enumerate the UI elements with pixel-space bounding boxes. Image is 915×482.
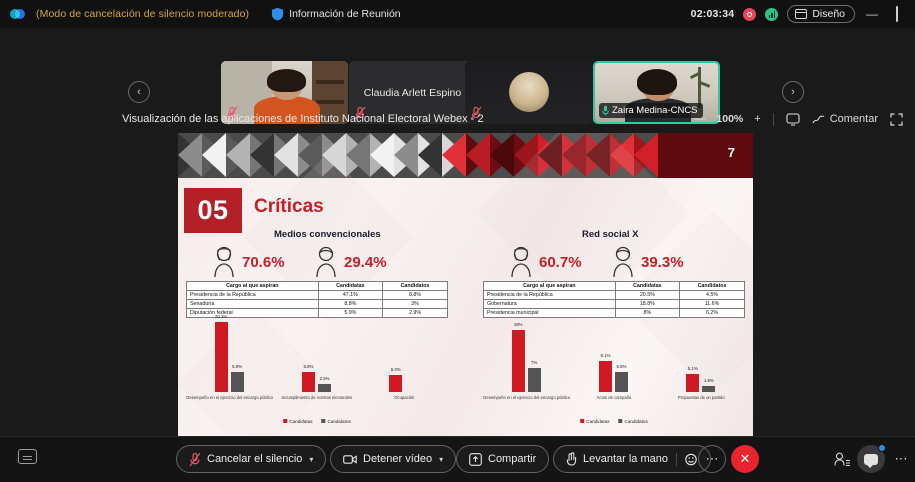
chart-legend-item: Candidatas (580, 419, 609, 424)
participants-icon (834, 452, 851, 467)
male-figure-icon (611, 246, 635, 278)
legend-swatch (283, 419, 287, 423)
chart-bar: 5.8% (302, 372, 315, 392)
female-figure-icon (212, 246, 236, 278)
network-quality-icon[interactable] (765, 8, 778, 21)
stats-table: Cargo al que aspiran Candidatas Candidat… (186, 281, 448, 318)
chart-bar-group: 9.1%5.8% (599, 361, 628, 392)
chart-bar: 5.1% (686, 374, 699, 392)
chart-plot-area: 18%7%9.1%5.8%5.1%1.8% (483, 316, 745, 392)
col-header-candidatas: Candidatas (318, 282, 382, 291)
cell-candidatas: 47.1% (318, 291, 382, 300)
chat-icon (864, 454, 878, 465)
layout-label: Diseño (812, 8, 845, 20)
chart-x-label: Desempeño en el ejercicio del encargo pú… (483, 395, 570, 400)
panel-medios-convencionales: 70.6% 29.4% Cargo al que aspiran Candida… (186, 246, 448, 318)
chart-x-label: Actos de campaña (570, 395, 657, 400)
female-percentage: 60.7% (539, 254, 582, 271)
zoom-level: 100% (716, 113, 743, 125)
reactions-icon[interactable] (685, 453, 698, 466)
chevron-left-icon: ‹ (137, 86, 141, 98)
col-header-candidatas: Candidatas (615, 282, 679, 291)
share-label: Compartir (488, 453, 536, 465)
restore-button[interactable] (889, 7, 905, 21)
more-options-button[interactable]: ⋯ (698, 445, 726, 473)
table-row: Presidencia de la República 20.5% 4.5% (484, 291, 745, 300)
chart-bar-group: 5.0% (389, 375, 402, 392)
cell-cargo: Presidencia de la República (187, 291, 319, 300)
table-row: Senaduría 8.8% 3% (187, 300, 448, 309)
expand-icon[interactable] (890, 113, 903, 126)
male-figure-icon (314, 246, 338, 278)
chart-bar: 7% (528, 368, 541, 392)
mute-toggle-button[interactable]: Cancelar el silencio ▾ (176, 445, 326, 473)
col-header-candidatos: Candidatos (383, 282, 448, 291)
toolbar-divider (773, 113, 774, 126)
chart-bar: 5.0% (389, 375, 402, 392)
shield-icon (271, 7, 284, 21)
chat-button[interactable] (857, 445, 885, 473)
legend-swatch (322, 419, 326, 423)
zoom-controls: — 100% + (694, 113, 760, 125)
chart-bar-value: 7% (531, 360, 537, 365)
zoom-out-button[interactable]: — (694, 113, 705, 125)
meeting-info-button[interactable]: Información de Reunión (271, 7, 401, 21)
meeting-controls-bar: Cancelar el silencio ▾ Detener vídeo ▾ C… (0, 436, 915, 482)
chart-bar-value: 9.1% (600, 353, 610, 358)
closed-caption-icon[interactable] (18, 449, 37, 464)
col-header-candidatos: Candidatos (680, 282, 745, 291)
female-percentage: 70.6% (242, 254, 285, 271)
chevron-right-icon: › (791, 86, 795, 98)
bar-chart-medios: 20.3%5.9%5.8%2.3%5.0% Desempeño en el ej… (186, 316, 448, 424)
share-toolbar: Visualización de las aplicaciones de Ins… (0, 104, 915, 134)
section-title: Críticas (254, 196, 324, 218)
layout-button[interactable]: Diseño (787, 5, 855, 23)
chart-x-labels: Desempeño en el ejercicio del encargo pú… (186, 392, 448, 408)
chart-legend-item: Candidatas (283, 419, 312, 424)
webex-logo-icon (10, 6, 26, 22)
raise-hand-icon (566, 452, 577, 466)
cell-candidatas: 8.8% (318, 300, 382, 309)
chat-unread-badge (878, 444, 886, 452)
chart-bar-group: 20.3%5.9% (215, 322, 244, 392)
section-number-badge: 05 (184, 188, 242, 233)
chart-x-label: Propuestas de un partido (658, 395, 745, 400)
slide-body: 05 Críticas Medios convencionales Red so… (178, 178, 753, 436)
video-label: Detener vídeo (363, 453, 432, 465)
mute-label: Cancelar el silencio (207, 453, 302, 465)
chart-x-label: Incumplimiento de normas electorales (273, 395, 360, 400)
layout-icon (795, 9, 807, 19)
column-heading-medios: Medios convencionales (274, 229, 381, 240)
chevron-down-icon[interactable]: ▾ (309, 455, 313, 464)
cell-candidatos: 8.8% (383, 291, 448, 300)
mic-muted-icon (189, 452, 201, 467)
meeting-timer: 02:03:34 (691, 8, 735, 20)
chart-bar-value: 18% (514, 322, 523, 327)
share-screen-icon (469, 453, 482, 466)
video-toggle-button[interactable]: Detener vídeo ▾ (330, 445, 456, 473)
chart-bar-value: 5.9% (232, 364, 242, 369)
toolbar-divider (0, 436, 915, 437)
chevron-down-icon[interactable]: ▾ (439, 455, 443, 464)
table-row: Presidencia de la República 47.1% 8.8% (187, 291, 448, 300)
chart-bar: 5.8% (615, 372, 628, 392)
chart-bar: 9.1% (599, 361, 612, 392)
annotate-icon (812, 114, 825, 125)
chart-x-labels: Desempeño en el ejercicio del encargo pú… (483, 392, 745, 408)
toolbar-divider (676, 453, 677, 466)
chart-plot-area: 20.3%5.9%5.8%2.3%5.0% (186, 316, 448, 392)
comment-button[interactable]: Comentar (812, 113, 878, 125)
legend-swatch (580, 419, 584, 423)
stats-table: Cargo al que aspiran Candidatas Candidat… (483, 281, 745, 318)
chart-bar-value: 5.8% (303, 364, 313, 369)
chart-bar-value: 1.8% (704, 378, 714, 383)
title-bar-right: 02:03:34 Diseño — (691, 5, 905, 23)
col-header-cargo: Cargo al que aspiran (484, 282, 616, 291)
meeting-info-label: Información de Reunión (289, 8, 401, 20)
chart-x-label: Desempeño en el ejercicio del encargo pú… (186, 395, 273, 400)
more-panels-button[interactable]: ⋯ (893, 445, 909, 473)
cell-cargo: Presidencia de la República (484, 291, 616, 300)
bar-chart-red-social: 18%7%9.1%5.8%5.1%1.8% Desempeño en el ej… (483, 316, 745, 424)
chart-bar: 18% (512, 330, 525, 392)
raise-hand-button[interactable]: Levantar la mano (553, 445, 711, 473)
share-tools: — 100% + Comentar (694, 113, 903, 126)
zoom-in-button[interactable]: + (754, 113, 760, 125)
recording-icon[interactable] (743, 8, 756, 21)
camera-icon (343, 454, 357, 465)
chart-bar-group: 5.1%1.8% (686, 374, 715, 392)
mute-mode-banner: (Modo de cancelación de silencio moderad… (36, 8, 249, 20)
chart-bar-value: 2.3% (319, 376, 329, 381)
chart-bar: 5.9% (231, 372, 244, 392)
share-title: Visualización de las aplicaciones de Ins… (122, 113, 484, 125)
female-figure-icon (509, 246, 533, 278)
chart-legend: CandidatasCandidatos (283, 419, 351, 424)
panel-red-social-x: 60.7% 39.3% Cargo al que aspiran Candida… (483, 246, 745, 318)
filmstrip-prev-button[interactable]: ‹ (128, 81, 150, 103)
cell-candidatos: 3% (383, 300, 448, 309)
column-heading-red-social: Red social X (582, 229, 639, 240)
chart-bar-group: 18%7% (512, 330, 541, 392)
chart-bar-value: 5.0% (391, 367, 401, 372)
slide-header-band: 7 (178, 133, 753, 178)
title-bar: (Modo de cancelación de silencio moderad… (0, 0, 915, 28)
cell-candidatos: 4.5% (680, 291, 745, 300)
webex-meeting-window: (Modo de cancelación de silencio moderad… (0, 0, 915, 482)
col-header-cargo: Cargo al que aspiran (187, 282, 319, 291)
cell-candidatas: 18.8% (615, 300, 679, 309)
chart-bar-value: 5.1% (688, 366, 698, 371)
chart-x-label: Ocupación (361, 395, 448, 400)
chart-legend: CandidatasCandidatos (580, 419, 648, 424)
fit-screen-icon[interactable] (786, 113, 800, 126)
chart-legend-item: Candidatos (619, 419, 648, 424)
raise-hand-label: Levantar la mano (583, 453, 668, 465)
cell-candidatos: 11.6% (680, 300, 745, 309)
share-button[interactable]: Compartir (456, 445, 549, 473)
legend-swatch (619, 419, 623, 423)
table-header-row: Cargo al que aspiran Candidatas Candidat… (187, 282, 448, 291)
table-header-row: Cargo al que aspiran Candidatas Candidat… (484, 282, 745, 291)
chart-bar: 2.3% (318, 384, 331, 392)
table-row: Gobernatura 18.8% 11.6% (484, 300, 745, 309)
cell-candidatas: 20.5% (615, 291, 679, 300)
gender-summary-row: 70.6% 29.4% (186, 246, 448, 281)
chart-bar-value: 20.3% (215, 314, 227, 319)
gender-summary-row: 60.7% 39.3% (483, 246, 745, 281)
minimize-button[interactable]: — (864, 7, 880, 21)
participant-filmstrip: ‹ › Claudia Arlett Espino (0, 28, 915, 102)
slide-page-number: 7 (728, 145, 735, 160)
chart-bar-value: 5.8% (616, 364, 626, 369)
leave-meeting-button[interactable]: ✕ (731, 445, 759, 473)
comment-label: Comentar (830, 113, 878, 125)
male-percentage: 39.3% (641, 254, 684, 271)
chart-bar-group: 5.8%2.3% (302, 372, 331, 392)
chart-legend-item: Candidatos (322, 419, 351, 424)
chart-bar: 20.3% (215, 322, 228, 392)
male-percentage: 29.4% (344, 254, 387, 271)
cell-cargo: Senaduría (187, 300, 319, 309)
filmstrip-next-button[interactable]: › (782, 81, 804, 103)
shared-presentation-slide[interactable]: 7 05 Críticas Medios convencionales Red … (178, 133, 753, 436)
cell-cargo: Gobernatura (484, 300, 616, 309)
participants-button[interactable] (832, 445, 852, 473)
